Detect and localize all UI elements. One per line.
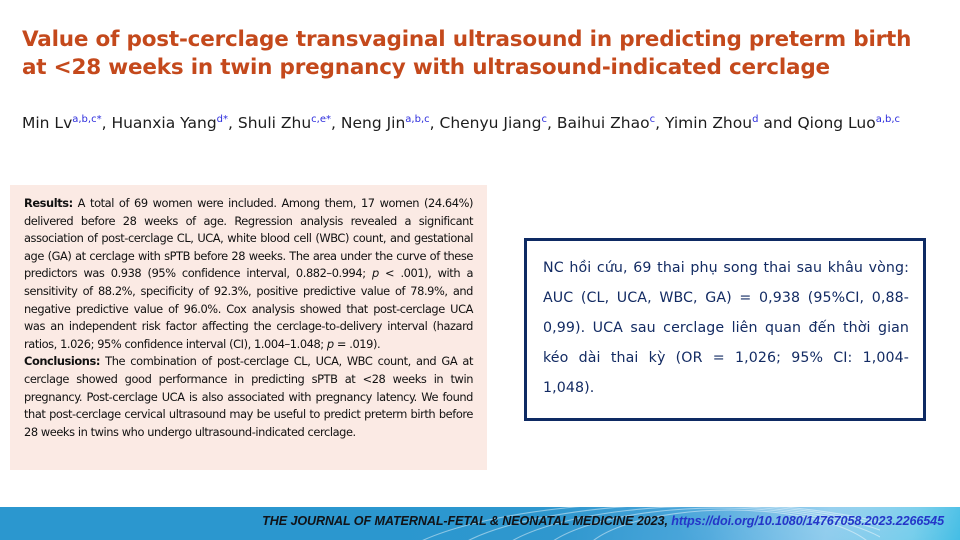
page-title: Value of post-cerclage transvaginal ultr… <box>22 26 937 82</box>
footer-doi-link[interactable]: https://doi.org/10.1080/14767058.2023.22… <box>668 514 944 528</box>
author-name: Min Lva,b,c* <box>22 114 102 132</box>
author-separator: , <box>655 114 665 132</box>
author-name: Baihui Zhaoc <box>557 114 655 132</box>
author-name: Neng Jina,b,c <box>341 114 430 132</box>
author-separator: , <box>228 114 238 132</box>
abstract-results-paragraph: Results: A total of 69 women were includ… <box>24 195 473 353</box>
abstract-panel: Results: A total of 69 women were includ… <box>10 185 487 470</box>
author-list: Min Lva,b,c*, Huanxia Yangd*, Shuli Zhuc… <box>22 112 932 135</box>
author-separator: and <box>758 114 797 132</box>
author-name: Huanxia Yangd* <box>111 114 228 132</box>
page-title-line-1: Value of post-cerclage transvaginal ultr… <box>22 26 937 54</box>
author-name-text: Qiong Luo <box>797 114 875 132</box>
vietnamese-summary-text: NC hồi cứu, 69 thai phụ song thai sau kh… <box>543 253 909 403</box>
author-separator: , <box>331 114 341 132</box>
page-title-line-2: at <28 weeks in twin pregnancy with ultr… <box>22 54 937 82</box>
abstract-results-label: Results: <box>24 196 73 210</box>
author-name: Chenyu Jiangc <box>440 114 547 132</box>
author-name-text: Chenyu Jiang <box>440 114 542 132</box>
author-name-text: Neng Jin <box>341 114 405 132</box>
author-affiliation-superscript: a,b,c <box>876 114 900 125</box>
author-name-text: Baihui Zhao <box>557 114 650 132</box>
author-name-text: Shuli Zhu <box>238 114 311 132</box>
author-name-text: Min Lv <box>22 114 72 132</box>
author-name-text: Huanxia Yang <box>111 114 216 132</box>
author-separator: , <box>102 114 112 132</box>
author-separator: , <box>430 114 440 132</box>
author-name: Yimin Zhoud <box>665 114 759 132</box>
author-affiliation-superscript: c,e* <box>311 114 331 125</box>
author-affiliation-superscript: a,b,c* <box>72 114 101 125</box>
footer-band: THE JOURNAL OF MATERNAL-FETAL & NEONATAL… <box>0 507 960 540</box>
author-affiliation-superscript: d* <box>217 114 228 125</box>
author-separator: , <box>547 114 557 132</box>
author-name-text: Yimin Zhou <box>665 114 752 132</box>
author-name: Qiong Luoa,b,c <box>797 114 900 132</box>
abstract-p-value-symbol: p <box>372 266 379 280</box>
abstract-conclusions-label: Conclusions: <box>24 354 100 368</box>
author-name: Shuli Zhuc,e* <box>238 114 331 132</box>
abstract-conclusions-paragraph: Conclusions: The combination of post-cer… <box>24 353 473 441</box>
footer-citation: THE JOURNAL OF MATERNAL-FETAL & NEONATAL… <box>0 514 944 528</box>
author-affiliation-superscript: a,b,c <box>405 114 429 125</box>
footer-journal-name: THE JOURNAL OF MATERNAL-FETAL & NEONATAL… <box>262 514 668 528</box>
vietnamese-summary-box: NC hồi cứu, 69 thai phụ song thai sau kh… <box>524 238 926 421</box>
abstract-p-value-symbol-2: p <box>327 337 334 351</box>
abstract-results-text-3: = .019). <box>334 337 380 351</box>
